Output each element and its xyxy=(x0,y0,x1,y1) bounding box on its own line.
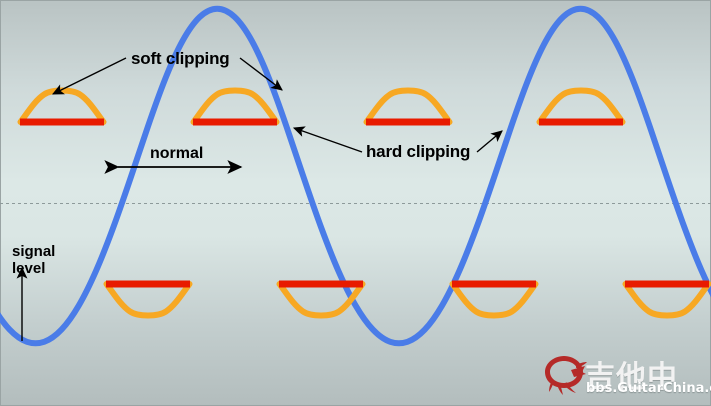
signal-level-line-2: level xyxy=(12,261,55,278)
label-signal-level: signal level xyxy=(12,244,55,278)
label-normal: normal xyxy=(150,145,203,163)
clipping-diagram: soft clipping hard clipping normal signa… xyxy=(0,0,711,406)
signal-level-line-1: signal xyxy=(12,244,55,261)
label-soft-clipping: soft clipping xyxy=(131,49,229,68)
waveform-canvas xyxy=(0,0,711,406)
label-hard-clipping: hard clipping xyxy=(366,142,470,161)
